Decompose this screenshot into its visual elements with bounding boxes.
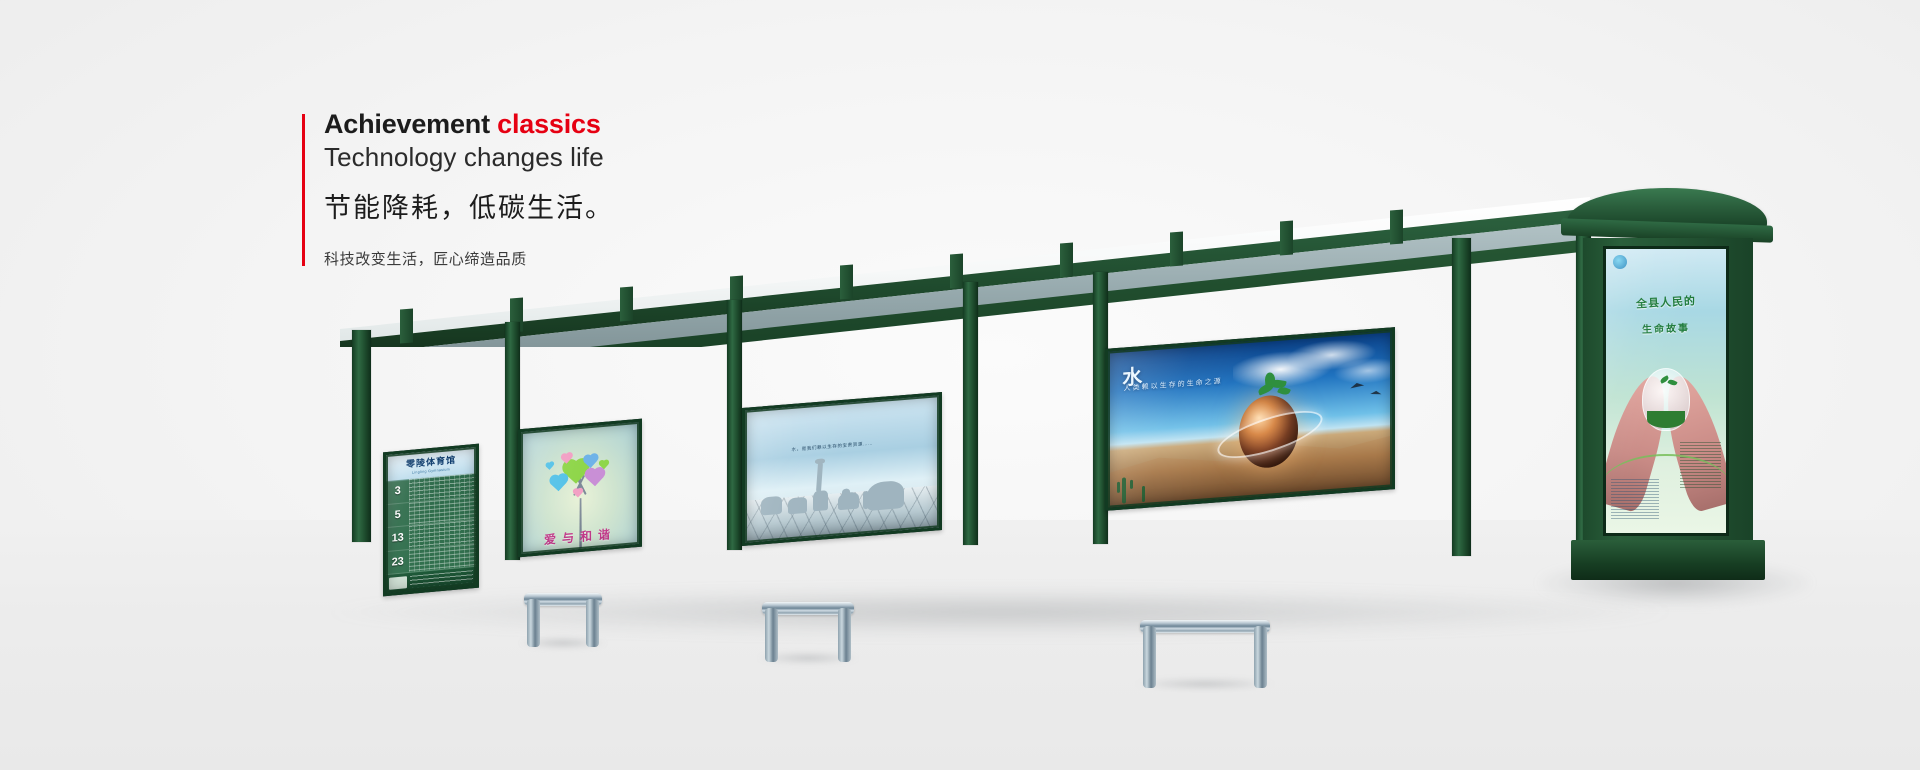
route-number: 3 xyxy=(386,484,409,498)
heart-icon xyxy=(551,475,567,491)
bench-seat xyxy=(1140,620,1270,633)
bench xyxy=(524,593,602,641)
poster-inner: 水，是我们赖以生存的宝贵资源…… xyxy=(745,395,939,543)
schedule-footer-notice xyxy=(410,570,473,588)
cactus-arm xyxy=(1117,482,1120,493)
animal-giraffe-body xyxy=(813,490,829,511)
heart-icon xyxy=(587,470,604,487)
route-number: 23 xyxy=(386,555,409,569)
information-tower[interactable]: 全县人民的 生命故事 xyxy=(1583,188,1753,588)
bird-icon xyxy=(1371,391,1382,395)
bench-leg xyxy=(1143,626,1156,688)
bench-leg xyxy=(838,608,851,662)
heart-icon xyxy=(546,463,553,470)
schedule-rows: 3 5 13 23 xyxy=(386,473,476,575)
canopy-rib xyxy=(1060,243,1073,278)
bench-leg xyxy=(586,599,599,647)
poster-inner: 水 人类赖以生存的生命之源 xyxy=(1108,330,1392,507)
canopy-rib xyxy=(840,265,853,300)
scene-canvas: Achievement classics Technology changes … xyxy=(0,0,1920,770)
bench-leg xyxy=(765,608,778,662)
headline-line-4-cn: 科技改变生活，匠心缔造品质 xyxy=(324,250,614,270)
headline-line-1: Achievement classics xyxy=(324,110,614,139)
cactus-icon xyxy=(1142,486,1145,502)
schedule-footer-tag xyxy=(389,577,407,590)
heart-icon xyxy=(574,489,582,497)
accent-rule xyxy=(302,114,305,266)
shelter-post xyxy=(727,300,742,550)
schedule-inner: 零陵体育馆 Lingling Gymnasium 3 5 13 xyxy=(386,447,476,593)
canopy-rib xyxy=(1280,221,1293,256)
sprout-icon xyxy=(1256,369,1287,403)
animal-elephant xyxy=(867,480,904,511)
poster-water-conservation[interactable]: 水 人类赖以生存的生命之源 xyxy=(1105,327,1395,511)
headline-line-3-cn: 节能降耗，低碳生活。 xyxy=(324,191,614,226)
canopy-rib xyxy=(1170,232,1183,267)
leaf xyxy=(1264,372,1275,387)
poster-caption: 水，是我们赖以生存的宝贵资源…… xyxy=(792,440,874,453)
headline-block: Achievement classics Technology changes … xyxy=(302,110,614,269)
headline-line-2: Technology changes life xyxy=(324,141,614,174)
canopy-rib xyxy=(620,287,633,322)
cactus-icon xyxy=(1122,477,1126,503)
heart-icon xyxy=(600,460,608,468)
canopy-rib xyxy=(950,254,963,289)
tower-poster-line-1: 全县人民的 xyxy=(1606,291,1727,313)
canopy-rib xyxy=(1390,210,1403,245)
bus-shelter: 零陵体育馆 Lingling Gymnasium 3 5 13 xyxy=(0,0,1920,770)
green-swoosh xyxy=(1603,454,1729,528)
shelter-post xyxy=(963,282,978,545)
animal-giraffe-head xyxy=(815,459,825,465)
bench-leg xyxy=(1254,626,1267,688)
poster-heart-tree[interactable]: 爱与和谐 xyxy=(518,419,642,558)
eco-logo-icon xyxy=(1613,255,1627,269)
poster-inner: 爱与和谐 xyxy=(521,422,639,554)
animal-giraffe-neck xyxy=(816,463,823,492)
soil-base xyxy=(1647,411,1685,428)
animal-zebra xyxy=(761,496,782,515)
route-number: 5 xyxy=(386,508,409,522)
animal-elephant-trunk xyxy=(863,491,869,510)
animal-camel-hump xyxy=(842,488,850,495)
shelter-post xyxy=(1452,238,1471,556)
bench xyxy=(762,602,854,656)
shelter-post xyxy=(352,330,371,542)
tower-poster-line-2: 生命故事 xyxy=(1606,318,1726,337)
bench xyxy=(1140,620,1270,682)
cactus-arm xyxy=(1130,480,1133,489)
animal-tiger xyxy=(788,497,807,514)
tower-base xyxy=(1571,540,1765,580)
bench-leg xyxy=(527,599,540,647)
poster-drought-animals[interactable]: 水，是我们赖以生存的宝贵资源…… xyxy=(742,392,942,546)
route-number: 13 xyxy=(386,531,409,545)
headline-line-1-red: classics xyxy=(497,109,601,139)
canopy-rib xyxy=(400,309,413,344)
headline-line-1-black: Achievement xyxy=(324,109,497,139)
tower-lightbox[interactable]: 全县人民的 生命故事 xyxy=(1603,246,1729,536)
route-schedule-board[interactable]: 零陵体育馆 Lingling Gymnasium 3 5 13 xyxy=(383,444,479,597)
